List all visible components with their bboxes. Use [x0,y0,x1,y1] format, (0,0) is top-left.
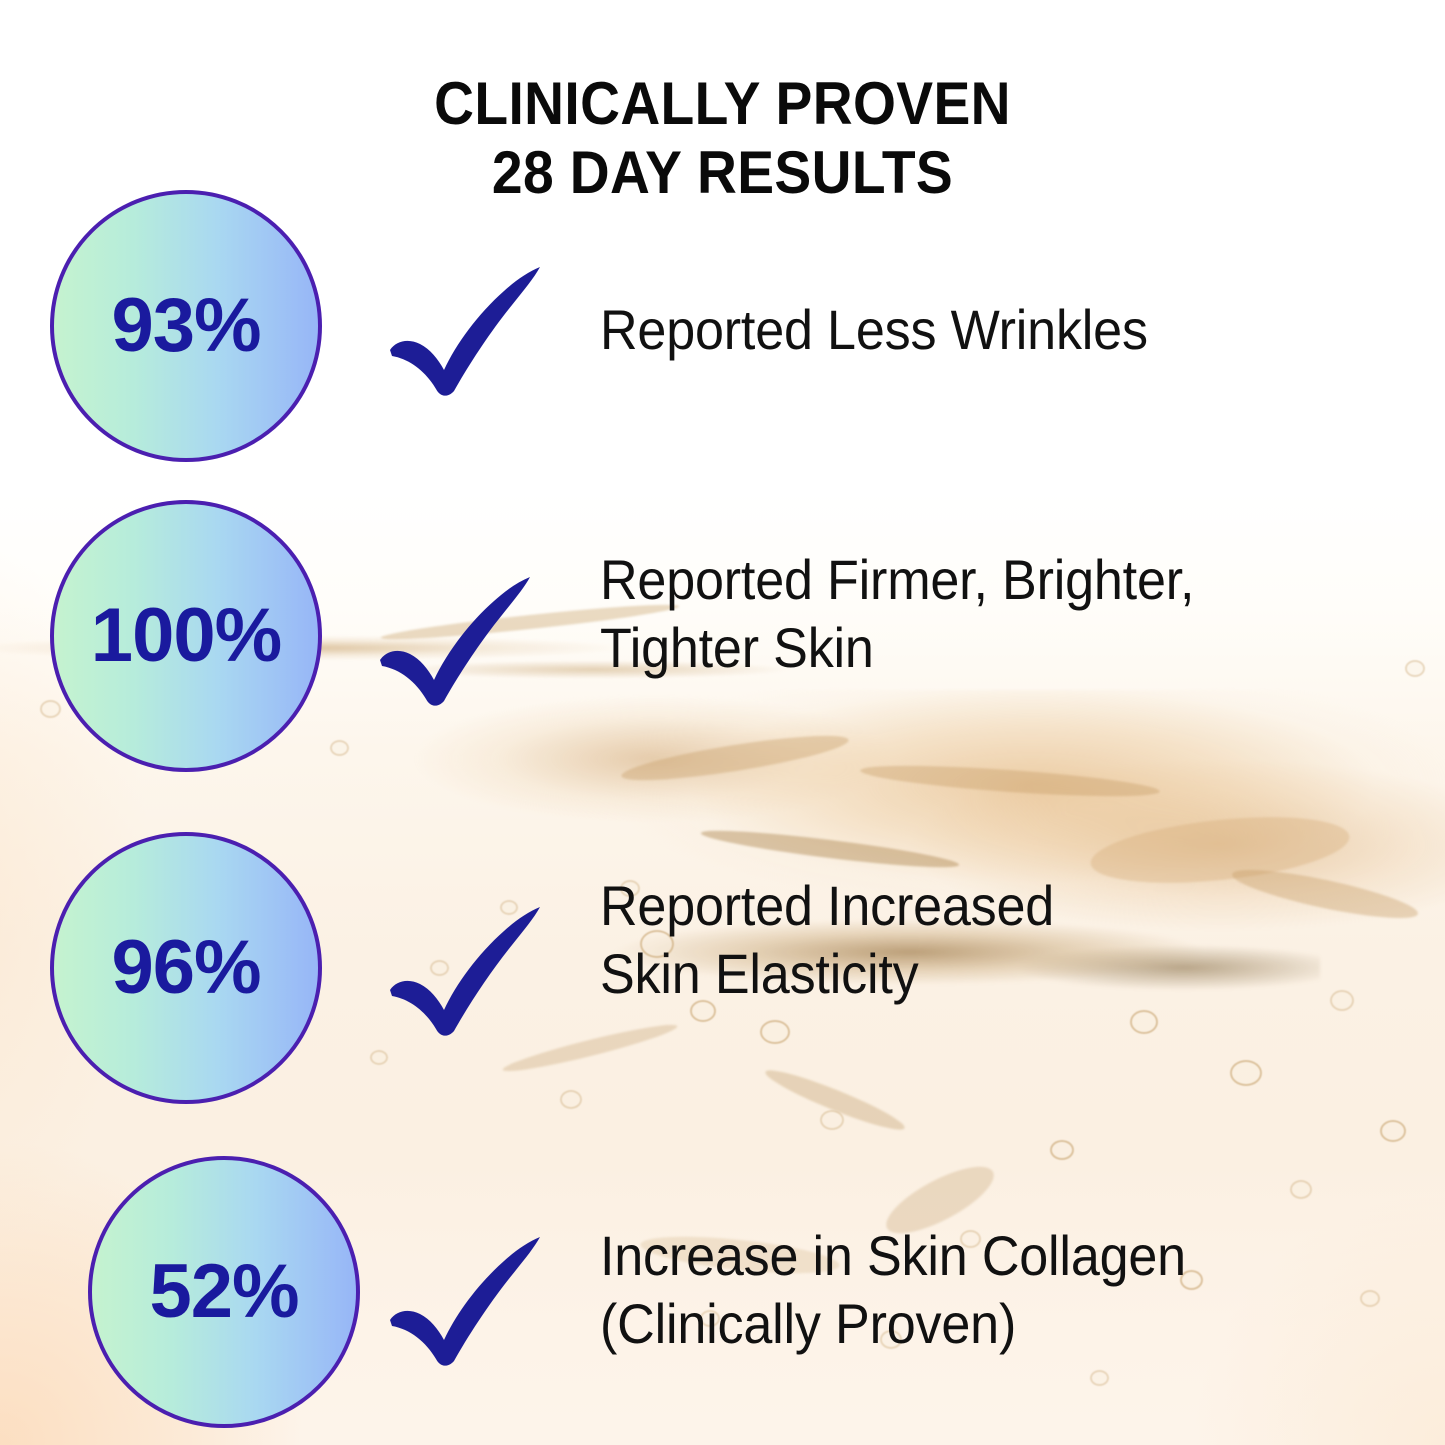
result-caption: Increase in Skin Collagen (Clinically Pr… [600,1222,1186,1359]
result-caption: Reported Increased Skin Elasticity [600,872,1054,1009]
page-title: CLINICALLY PROVEN 28 DAY RESULTS [58,70,1387,207]
percent-value: 93% [111,288,260,364]
percent-badge: 100% [50,500,322,772]
result-caption: Reported Firmer, Brighter, Tighter Skin [600,546,1194,683]
headline-line-1: CLINICALLY PROVEN [58,70,1387,138]
checkmark-icon [382,898,562,1038]
infographic-content: CLINICALLY PROVEN 28 DAY RESULTS 93% Rep… [0,0,1445,1445]
clinical-results-infographic: CLINICALLY PROVEN 28 DAY RESULTS 93% Rep… [0,0,1445,1445]
checkmark-icon [382,258,562,398]
percent-value: 100% [91,598,281,674]
headline-line-2: 28 DAY RESULTS [58,139,1387,207]
percent-badge: 93% [50,190,322,462]
checkmark-icon [382,1228,562,1368]
percent-value: 96% [111,930,260,1006]
percent-badge: 52% [88,1156,360,1428]
percent-value: 52% [149,1254,298,1330]
result-caption: Reported Less Wrinkles [600,296,1148,364]
percent-badge: 96% [50,832,322,1104]
checkmark-icon [372,568,552,708]
